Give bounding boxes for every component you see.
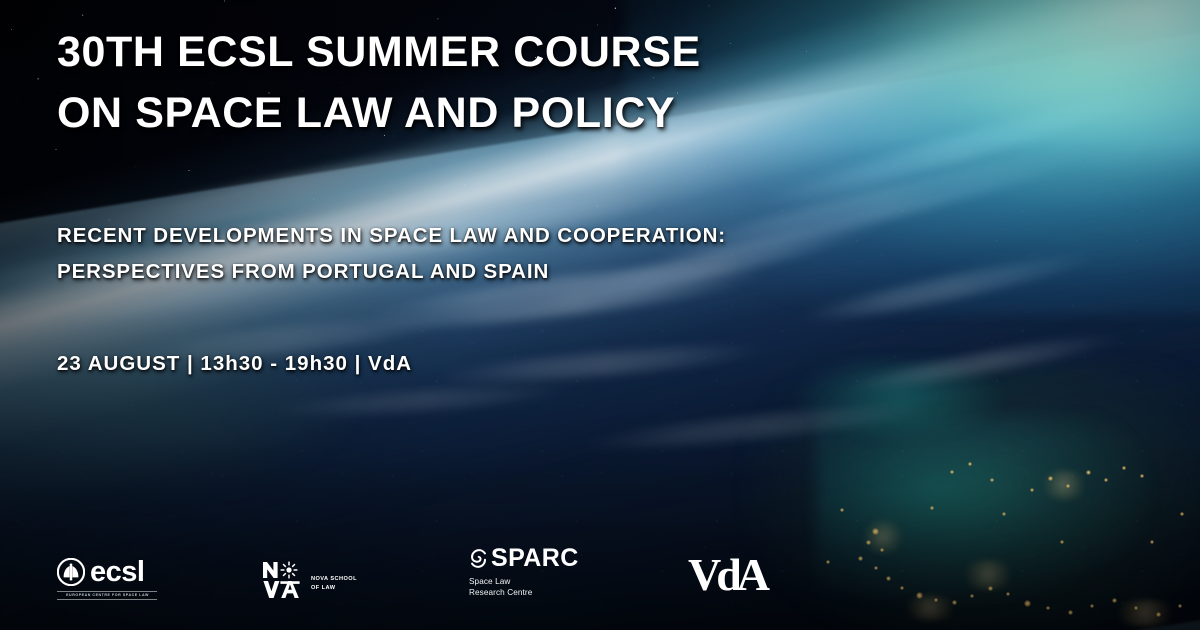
logo-nova-school-of-law[interactable]: NOVA SCHOOL OF LAW [262, 560, 357, 600]
vda-wordmark: VdA [688, 552, 765, 598]
page-title: 30TH ECSL SUMMER COURSE ON SPACE LAW AND… [57, 22, 701, 144]
poster-subtitle: RECENT DEVELOPMENTS IN SPACE LAW AND COO… [57, 218, 726, 291]
event-datetime-venue: 23 AUGUST | 13h30 - 19h30 | VdA [57, 352, 412, 376]
ecsl-wordmark: ecsl [90, 558, 144, 587]
sparc-line-2: Research Centre [469, 587, 579, 598]
logo-sparc[interactable]: SPARC Space Law Research Centre [468, 546, 579, 598]
logo-ecsl[interactable]: ecsl EUROPEAN CENTRE FOR SPACE LAW [57, 558, 157, 600]
scales-of-justice-circle-icon [57, 558, 85, 586]
logo-vda[interactable]: VdA [688, 552, 765, 598]
sparc-line-1: Space Law [469, 576, 579, 587]
partner-logo-bar: ecsl EUROPEAN CENTRE FOR SPACE LAW [0, 536, 1200, 602]
sparc-wordmark: SPARC [491, 546, 579, 571]
nova-starburst-icon [281, 562, 298, 579]
sparc-swirl-icon [468, 548, 489, 569]
ecsl-tagline: EUROPEAN CENTRE FOR SPACE LAW [57, 591, 157, 600]
nova-line-1: NOVA SCHOOL [311, 575, 357, 583]
sparc-subtitle: Space Law Research Centre [469, 576, 579, 598]
nova-wordmark-text: NOVA SCHOOL OF LAW [311, 575, 357, 600]
nova-line-2: OF LAW [311, 584, 357, 592]
poster-content: 30TH ECSL SUMMER COURSE ON SPACE LAW AND… [0, 0, 1200, 630]
nova-monogram [262, 560, 304, 600]
event-poster: 30TH ECSL SUMMER COURSE ON SPACE LAW AND… [0, 0, 1200, 630]
